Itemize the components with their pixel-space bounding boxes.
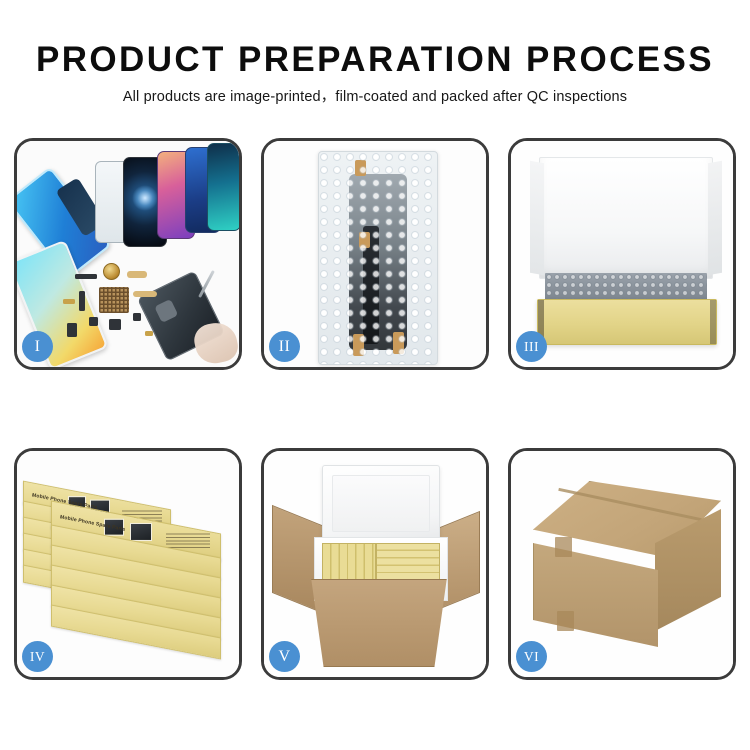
sensor-part-icon [133,313,141,321]
step-badge-4: IV [22,641,53,672]
vibrator-part-icon [109,319,121,330]
step-2-image [264,141,486,367]
bubble-padding-layer [545,273,707,301]
box-text-lines-b [166,533,210,548]
step-4-image: Mobile Phone Spare Parts Mobile Phone Sp… [17,451,239,677]
process-step-6: VI [508,448,736,680]
speaker-part-icon [75,274,97,279]
camera-module-icon [103,263,120,280]
carton-front-face [533,543,658,647]
tape-tab-middle [359,232,370,248]
yellow-box-tray [537,299,717,345]
small-chip-icon [89,317,98,326]
bubble-wrap-bag [318,151,438,365]
stacked-boxes-scene: Mobile Phone Spare Parts Mobile Phone Sp… [17,451,239,677]
phone-parts-scene [17,141,239,367]
process-step-3: III [508,138,736,370]
step-3-image [511,141,733,367]
process-step-5: V [261,448,489,680]
tape-tab-bottom-left [353,334,364,356]
step-1-image [17,141,239,367]
sim-tray-icon [67,323,77,337]
step-badge-2: II [269,331,300,362]
header: PRODUCT PREPARATION PROCESS All products… [0,40,750,106]
step-5-image [264,451,486,677]
process-step-4: Mobile Phone Spare Parts Mobile Phone Sp… [14,448,242,680]
step-badge-1: I [22,331,53,362]
step-badge-5: V [269,641,300,672]
carton-tape-upper [555,537,572,557]
product-preparation-infographic: PRODUCT PREPARATION PROCESS All products… [0,0,750,750]
step-badge-6: VI [516,641,547,672]
page-title: PRODUCT PREPARATION PROCESS [0,40,750,80]
open-box-foam-scene [511,141,733,367]
box-window-d [130,523,152,541]
flex-cable-icon [127,271,147,278]
carton-body [302,579,456,667]
foam-lid-open [322,465,440,545]
connector-part-icon [79,291,85,311]
foam-sheet [539,157,713,279]
screw-part-icon [145,331,153,336]
process-step-2: II [261,138,489,370]
carton-foam-scene [264,451,486,677]
tape-tab-top [355,160,366,176]
process-step-1: I [14,138,242,370]
teal-phone-icon [207,143,239,231]
tape-tab-bottom-right [393,332,404,354]
sealed-carton-scene [511,451,733,677]
step-badge-3: III [516,331,547,362]
gold-contact-icon [63,299,75,304]
bubble-wrap-scene [264,141,486,367]
process-step-grid: I II [14,138,736,680]
carton-tape-lower [557,611,574,631]
ribbon-cable-icon [133,291,157,297]
page-subtitle: All products are image-printed，film-coat… [0,88,750,106]
logic-board-icon [99,287,129,313]
step-6-image [511,451,733,677]
